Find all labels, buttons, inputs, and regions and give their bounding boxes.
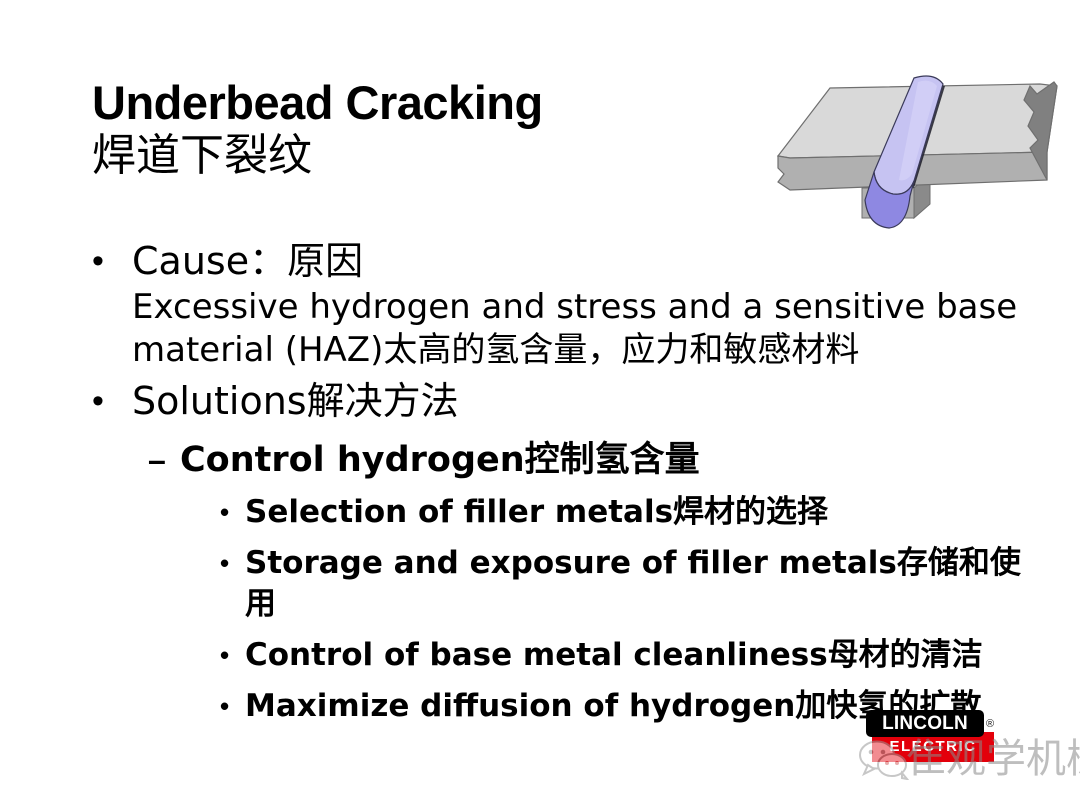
bullet-base-metal-cleanliness: • Control of base metal cleanliness母材的清洁 xyxy=(220,635,1048,676)
bullet-filler-storage: • Storage and exposure of filler metals存… xyxy=(220,543,1048,625)
bullet-filler-selection-label: Selection of filler metals焊材的选择 xyxy=(245,492,828,533)
slide-canvas: Underbead Cracking 焊道下裂纹 xyxy=(0,0,1080,810)
bullet-base-metal-cleanliness-label: Control of base metal cleanliness母材的清洁 xyxy=(245,635,983,676)
logo-black-plate: LINCOLN xyxy=(866,710,984,737)
title-chinese: 焊道下裂纹 xyxy=(92,131,732,182)
bullet-filler-selection: • Selection of filler metals焊材的选择 xyxy=(220,492,1048,533)
bullet-control-hydrogen: – Control hydrogen控制氢含量 xyxy=(148,438,1048,482)
bullet-solutions-label: Solutions解决方法 xyxy=(132,378,1048,424)
title-english: Underbead Cracking xyxy=(92,78,732,127)
slide-body: • Cause：原因 Excessive hydrogen and stress… xyxy=(88,238,1048,727)
bullet-cause-label: Cause：原因 xyxy=(132,238,1048,284)
bullet-control-hydrogen-label: Control hydrogen控制氢含量 xyxy=(180,438,700,482)
page-title: Underbead Cracking 焊道下裂纹 xyxy=(92,78,732,182)
bullet-marker: • xyxy=(220,686,245,727)
registered-trademark-icon: ® xyxy=(986,718,994,730)
weld-joint-illustration xyxy=(762,56,1074,236)
bullet-marker: • xyxy=(88,238,132,284)
bullet-marker: • xyxy=(220,492,245,533)
bullet-marker: • xyxy=(220,543,245,584)
bullet-marker: • xyxy=(88,378,132,424)
lincoln-electric-logo: ELECTRIC LINCOLN ® xyxy=(866,708,1000,770)
bullet-marker: • xyxy=(220,635,245,676)
bullet-cause: • Cause：原因 xyxy=(88,238,1048,284)
logo-brand: LINCOLN xyxy=(866,710,984,737)
bullet-solutions: • Solutions解决方法 xyxy=(88,378,1048,424)
bullet-cause-paragraph: Excessive hydrogen and stress and a sens… xyxy=(132,286,1032,372)
bullet-filler-storage-label: Storage and exposure of filler metals存储和… xyxy=(245,543,1048,625)
dash-marker: – xyxy=(148,438,180,482)
